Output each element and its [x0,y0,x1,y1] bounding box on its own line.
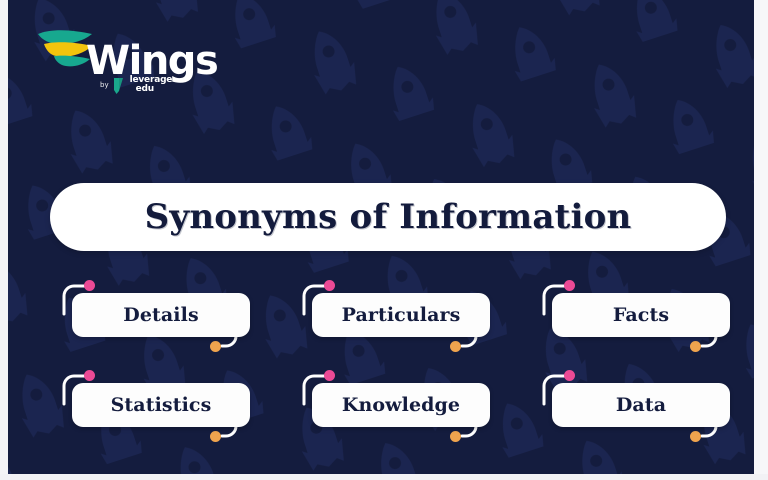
synonym-chip[interactable]: Data [552,383,730,427]
synonym-card-facts[interactable]: Facts [538,280,748,352]
pink-dot-icon [324,280,335,291]
orange-dot-icon [690,431,701,442]
pink-dot-icon [564,280,575,291]
orange-dot-icon [210,431,221,442]
pink-dot-icon [324,370,335,381]
page-edge-bottom [0,474,768,480]
slide-canvas: Wings by leverage edu Synonyms of Inform… [8,0,754,474]
orange-dot-icon [450,341,461,352]
pink-dot-icon [84,280,95,291]
leverage-check-icon [112,77,127,95]
pink-dot-icon [84,370,95,381]
brand-sub-lockup: by leverage edu [100,76,172,94]
page-edge-left [0,0,8,480]
title-card: Synonyms of Information [50,183,726,251]
synonym-card-particulars[interactable]: Particulars [298,280,508,352]
orange-dot-icon [450,431,461,442]
synonym-label: Data [616,394,666,416]
synonym-label: Facts [613,304,669,326]
synonym-label: Knowledge [342,394,460,416]
synonym-chip[interactable]: Facts [552,293,730,337]
brand-sub-line2: edu [130,85,173,94]
brand-sub-text: leverage edu [130,76,173,94]
synonym-card-details[interactable]: Details [58,280,268,352]
synonym-chip[interactable]: Statistics [72,383,250,427]
brand-by-label: by [100,81,109,89]
page-title: Synonyms of Information [145,197,632,237]
synonym-card-statistics[interactable]: Statistics [58,370,268,442]
synonym-chip[interactable]: Details [72,293,250,337]
synonym-chip[interactable]: Particulars [312,293,490,337]
synonym-card-grid: Details Particulars Facts [8,272,754,462]
synonym-chip[interactable]: Knowledge [312,383,490,427]
orange-dot-icon [210,341,221,352]
synonym-card-data[interactable]: Data [538,370,748,442]
brand-logo: Wings by leverage edu [34,24,214,100]
synonym-label: Particulars [342,304,461,326]
pink-dot-icon [564,370,575,381]
synonym-label: Statistics [111,394,212,416]
page-edge-right [754,0,768,480]
orange-dot-icon [690,341,701,352]
synonym-card-knowledge[interactable]: Knowledge [298,370,508,442]
synonym-label: Details [123,304,199,326]
